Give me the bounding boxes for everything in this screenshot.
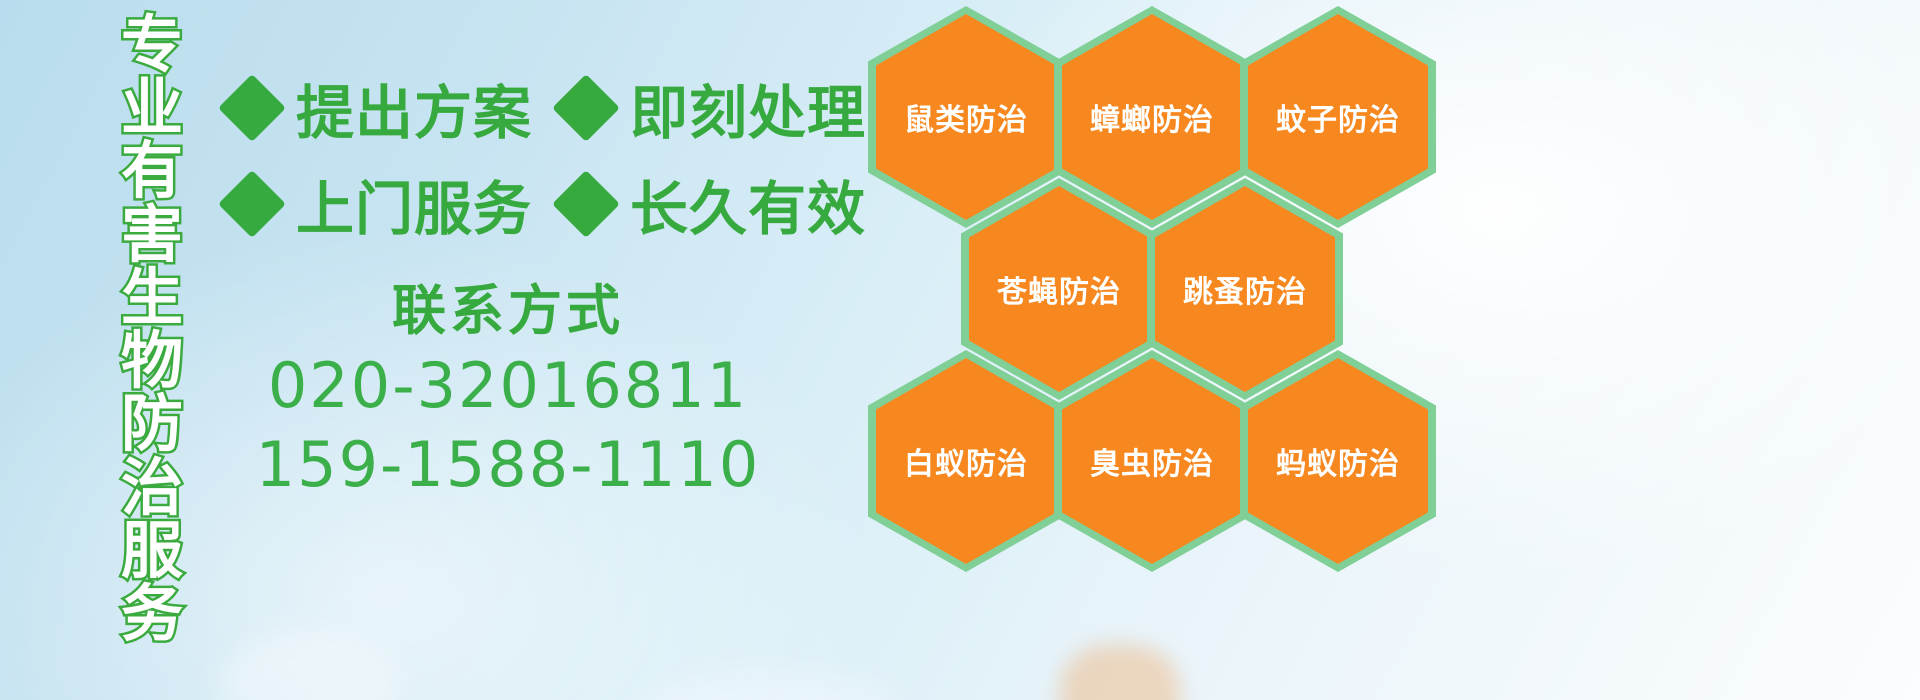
hex-inner: 白蚁防治 <box>876 358 1056 564</box>
vertical-title-char: 害 <box>121 204 183 267</box>
hex-inner: 蚊子防治 <box>1248 14 1428 220</box>
service-label: 苍蝇防治 <box>997 267 1121 311</box>
vertical-title-char: 生 <box>121 267 183 330</box>
decorative-blob <box>220 630 400 700</box>
hex-inner: 臭虫防治 <box>1062 358 1242 564</box>
feature-label: 提出方案 <box>296 66 532 150</box>
feature-item-immediate-handling: 即刻处理 <box>562 66 866 150</box>
vertical-title-char: 防 <box>121 393 183 456</box>
service-label: 臭虫防治 <box>1090 439 1214 483</box>
service-label: 白蚁防治 <box>904 439 1028 483</box>
feature-item-long-lasting: 长久有效 <box>562 162 866 246</box>
feature-item-onsite-service: 上门服务 <box>228 162 532 246</box>
hex-inner: 蚂蚁防治 <box>1248 358 1428 564</box>
feature-label: 长久有效 <box>630 162 866 246</box>
service-label: 跳蚤防治 <box>1183 267 1307 311</box>
vertical-title-char: 业 <box>121 77 183 140</box>
vertical-title: 专 业 有 害 生 物 防 治 服 务 <box>104 14 200 574</box>
vertical-title-char: 专 <box>121 14 183 77</box>
feature-row-2: 上门服务 长久有效 <box>228 156 868 252</box>
service-label: 蚊子防治 <box>1276 95 1400 139</box>
vertical-title-char: 物 <box>121 330 183 393</box>
diamond-bullet-icon <box>218 74 286 142</box>
feature-label: 即刻处理 <box>630 66 866 150</box>
contact-block: 联系方式 020-32016811 159-1588-1110 <box>228 278 788 504</box>
vertical-title-char: 务 <box>121 583 183 646</box>
feature-row-1: 提出方案 即刻处理 <box>228 60 868 156</box>
vertical-title-char: 有 <box>121 140 183 203</box>
hex-inner: 鼠类防治 <box>876 14 1056 220</box>
diamond-bullet-icon <box>552 74 620 142</box>
feature-item-propose-plan: 提出方案 <box>228 66 532 150</box>
service-label: 蟑螂防治 <box>1090 95 1214 139</box>
hex-inner: 跳蚤防治 <box>1155 186 1335 392</box>
feature-label: 上门服务 <box>296 162 532 246</box>
diamond-bullet-icon <box>218 170 286 238</box>
contact-phone-landline[interactable]: 020-32016811 <box>228 346 788 425</box>
hex-inner: 苍蝇防治 <box>969 186 1149 392</box>
pest-control-banner: 专 业 有 害 生 物 防 治 服 务 提出方案 即刻处理 上门服务 <box>0 0 1920 700</box>
hex-inner: 蟑螂防治 <box>1062 14 1242 220</box>
contact-phone-mobile[interactable]: 159-1588-1110 <box>228 425 788 504</box>
middle-content: 提出方案 即刻处理 上门服务 长久有效 联系方式 020-32016811 15… <box>228 60 868 504</box>
vertical-title-char: 治 <box>121 457 183 520</box>
service-label: 蚂蚁防治 <box>1276 439 1400 483</box>
vertical-title-char: 服 <box>121 520 183 583</box>
contact-title: 联系方式 <box>228 278 788 346</box>
service-label: 鼠类防治 <box>904 95 1028 139</box>
services-honeycomb: 鼠类防治 蟑螂防治 蚊子防治 苍蝇防治 跳蚤防治 白蚁防治 <box>860 0 1460 700</box>
diamond-bullet-icon <box>552 170 620 238</box>
